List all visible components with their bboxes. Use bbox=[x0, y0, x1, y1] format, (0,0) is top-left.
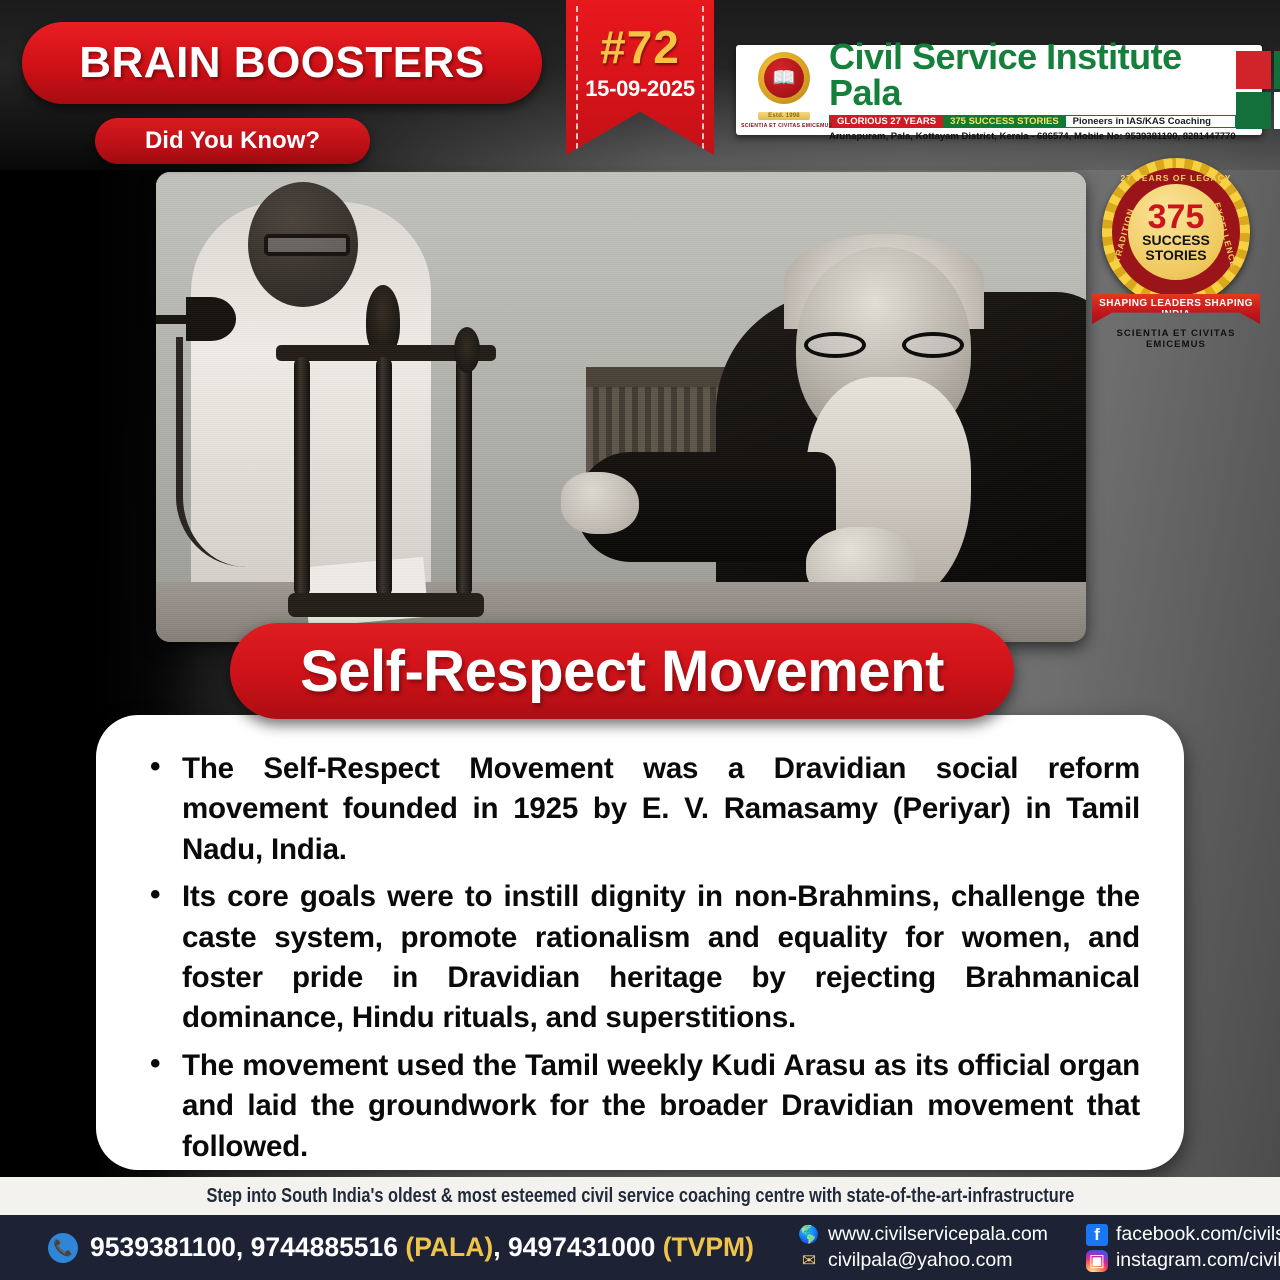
badge-ribbon-text: SHAPING LEADERS SHAPING INDIA bbox=[1092, 298, 1260, 320]
facebook-icon: f bbox=[1086, 1224, 1108, 1246]
institute-logo-card: 📖 Estd. 1998 SCIENTIA ET CIVITAS EMICEMU… bbox=[736, 45, 1262, 135]
badge-ring: 27 YEARS OF LEGACY TRADITION EXCELLENCE … bbox=[1112, 168, 1240, 296]
feature-photo bbox=[156, 172, 1086, 642]
footer-contact-bar: 📞 9539381100, 9744885516 (PALA), 9497431… bbox=[0, 1215, 1280, 1280]
photo-grain-overlay bbox=[156, 172, 1086, 642]
instagram-icon: ▣ bbox=[1086, 1250, 1108, 1272]
success-stories-badge: 27 YEARS OF LEGACY TRADITION EXCELLENCE … bbox=[1090, 158, 1262, 348]
brand-title: BRAIN BOOSTERS bbox=[79, 38, 484, 88]
grid-square-green-1 bbox=[1274, 51, 1280, 89]
instagram-link[interactable]: ▣ instagram.com/civilservicepala bbox=[1086, 1249, 1280, 1272]
phone-tag-tvpm: (TVPM) bbox=[663, 1232, 754, 1262]
emblem-banner: Estd. 1998 SCIENTIA ET CIVITAS EMICEMUS bbox=[741, 104, 827, 129]
globe-icon: 🌎 bbox=[798, 1224, 820, 1246]
logo-color-grid: 🌿 bbox=[1236, 49, 1280, 131]
header: BRAIN BOOSTERS Did You Know? #72 15-09-2… bbox=[0, 0, 1280, 170]
grid-square-green-2 bbox=[1236, 92, 1272, 130]
footer-phones[interactable]: 📞 9539381100, 9744885516 (PALA), 9497431… bbox=[0, 1232, 754, 1263]
phone-icon: 📞 bbox=[48, 1233, 78, 1263]
badge-motto: SCIENTIA ET CIVITAS EMICEMUS bbox=[1090, 328, 1262, 350]
tagline-strip: Step into South India's oldest & most es… bbox=[0, 1177, 1280, 1215]
facebook-text: facebook.com/civilservicepala bbox=[1116, 1223, 1280, 1246]
instagram-text: instagram.com/civilservicepala bbox=[1116, 1249, 1280, 1272]
content-card: The Self-Respect Movement was a Dravidia… bbox=[96, 715, 1184, 1170]
badge-stories: 375 SUCCESS STORIES bbox=[943, 116, 1066, 127]
badge-number: 375 bbox=[1148, 201, 1205, 233]
institute-address: Arunapuram, Pala, Kottayam District, Ker… bbox=[829, 131, 1236, 142]
leaf-icon: 🌿 bbox=[1274, 92, 1280, 130]
badge-pioneers: Pioneers in IAS/KAS Coaching bbox=[1066, 116, 1218, 127]
did-you-know-badge: Did You Know? bbox=[95, 118, 370, 164]
badge-line-1: SUCCESS bbox=[1142, 233, 1210, 248]
issue-ribbon: #72 15-09-2025 bbox=[566, 0, 714, 155]
footer-web-links: 🌎 www.civilservicepala.com ✉ civilpala@y… bbox=[798, 1223, 1048, 1272]
mail-icon: ✉ bbox=[798, 1250, 820, 1272]
grid-square-red bbox=[1236, 51, 1272, 89]
badge-disc: 27 YEARS OF LEGACY TRADITION EXCELLENCE … bbox=[1102, 158, 1250, 306]
institute-emblem-icon: 📖 Estd. 1998 SCIENTIA ET CIVITAS EMICEMU… bbox=[741, 49, 827, 131]
tagline-text: Step into South India's oldest & most es… bbox=[206, 1184, 1074, 1208]
logo-main: Civil Service Institute Pala GLORIOUS 27… bbox=[827, 49, 1236, 131]
website-text: www.civilservicepala.com bbox=[828, 1223, 1048, 1246]
logo-badge-row: GLORIOUS 27 YEARS 375 SUCCESS STORIES Pi… bbox=[829, 115, 1236, 128]
seal-book-icon: 📖 bbox=[764, 58, 804, 98]
issue-number: #72 bbox=[566, 20, 714, 74]
seal-icon: 📖 bbox=[758, 52, 810, 104]
issue-date: 15-09-2025 bbox=[566, 76, 714, 102]
badge-core: 375 SUCCESS STORIES bbox=[1128, 184, 1224, 280]
list-item: Its core goals were to instill dignity i… bbox=[140, 877, 1140, 1039]
list-item: The Self-Respect Movement was a Dravidia… bbox=[140, 749, 1140, 870]
fact-list: The Self-Respect Movement was a Dravidia… bbox=[140, 749, 1140, 1167]
phone-tag-pala: (PALA) bbox=[405, 1232, 493, 1262]
email-link[interactable]: ✉ civilpala@yahoo.com bbox=[798, 1249, 1048, 1272]
did-you-know-label: Did You Know? bbox=[145, 127, 320, 155]
footer-social-links: f facebook.com/civilservicepala ▣ instag… bbox=[1086, 1223, 1280, 1272]
brain-boosters-banner: BRAIN BOOSTERS bbox=[22, 22, 542, 104]
email-text: civilpala@yahoo.com bbox=[828, 1249, 1013, 1272]
badge-line-2: STORIES bbox=[1145, 248, 1206, 263]
badge-ribbon: SHAPING LEADERS SHAPING INDIA bbox=[1092, 294, 1260, 324]
emblem-estd: Estd. 1998 bbox=[758, 112, 810, 120]
institute-name: Civil Service Institute Pala bbox=[829, 39, 1236, 111]
facebook-link[interactable]: f facebook.com/civilservicepala bbox=[1086, 1223, 1280, 1246]
badge-years: GLORIOUS 27 YEARS bbox=[830, 116, 943, 127]
emblem-motto: SCIENTIA ET CIVITAS EMICEMUS bbox=[741, 123, 827, 129]
list-item: The movement used the Tamil weekly Kudi … bbox=[140, 1046, 1140, 1167]
phone-numbers: 9539381100, 9744885516 (PALA), 949743100… bbox=[90, 1232, 754, 1263]
phone-plain-1: 9539381100, 9744885516 bbox=[90, 1232, 405, 1262]
phone-plain-2: , 9497431000 bbox=[493, 1232, 662, 1262]
badge-arc-top: 27 YEARS OF LEGACY bbox=[1121, 173, 1232, 183]
page-title: Self-Respect Movement bbox=[300, 638, 944, 705]
topic-title-banner: Self-Respect Movement bbox=[230, 623, 1014, 719]
website-link[interactable]: 🌎 www.civilservicepala.com bbox=[798, 1223, 1048, 1246]
